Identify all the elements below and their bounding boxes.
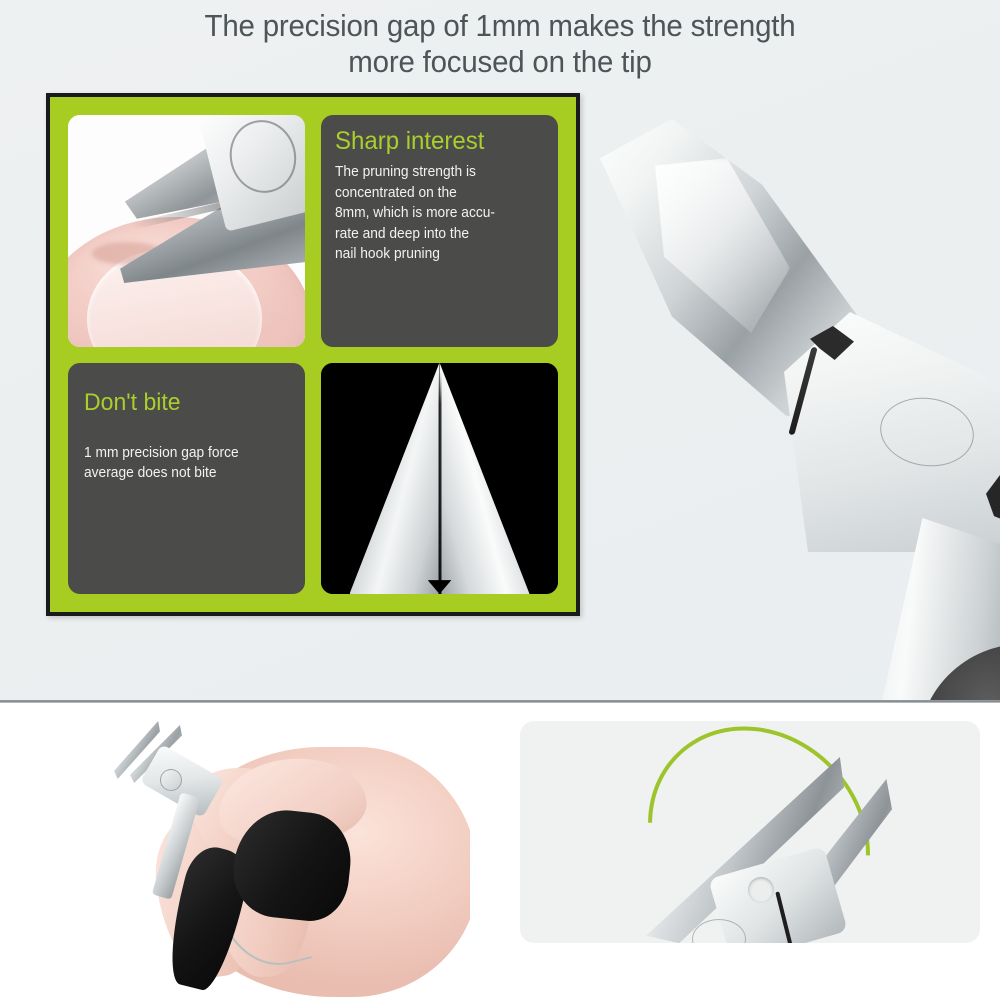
right-blade-shape: [440, 363, 530, 595]
dont-bite-title: Don't bite: [84, 389, 283, 417]
angled-jaws-card: [520, 721, 980, 943]
blade-seam-line: [438, 372, 441, 594]
bottom-section: [0, 703, 1000, 1000]
dont-bite-panel: Don't bite 1 mm precision gap force aver…: [68, 363, 305, 595]
sharp-interest-body: The pruning strength is concentrated on …: [335, 162, 534, 265]
page-headline: The precision gap of 1mm makes the stren…: [73, 8, 928, 80]
top-section: The precision gap of 1mm makes the stren…: [0, 0, 1000, 702]
sharp-interest-title: Sharp interest: [335, 127, 536, 155]
hero-clipper-macro: [588, 88, 1000, 702]
clipper-on-nail-illustration: [68, 115, 305, 347]
left-blade-shape: [349, 363, 439, 595]
clipper-pivot-pin: [160, 769, 182, 791]
clipper-on-nail-photo: [68, 115, 305, 347]
blade-macro-illustration: [321, 363, 558, 595]
sharp-interest-panel: Sharp interest The pruning strength is c…: [321, 115, 558, 347]
product-infographic-page: The precision gap of 1mm makes the stren…: [0, 0, 1000, 1000]
hand-holding-clipper-photo: [70, 711, 470, 1000]
blade-macro-photo: [321, 363, 558, 595]
feature-card: Sharp interest The pruning strength is c…: [46, 93, 580, 616]
clipper-joint-hole: [748, 877, 774, 903]
dont-bite-body: 1 mm precision gap force average does no…: [84, 443, 281, 484]
feature-card-grid: Sharp interest The pruning strength is c…: [68, 115, 558, 594]
